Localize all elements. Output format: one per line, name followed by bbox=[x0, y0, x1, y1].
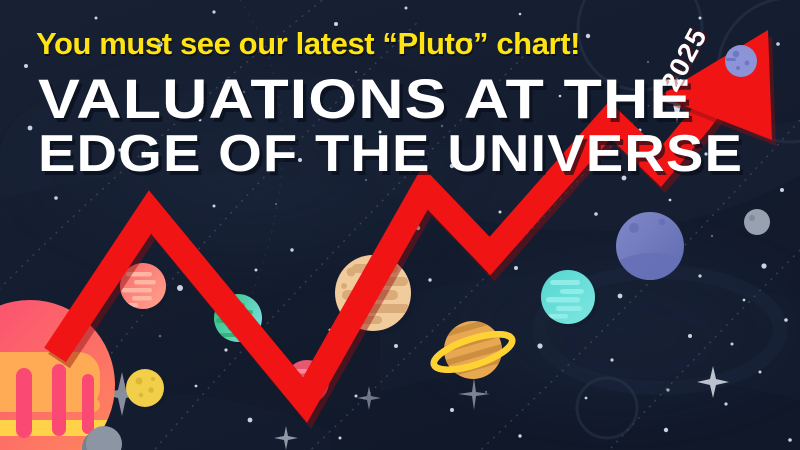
space-illustration bbox=[0, 0, 800, 450]
poster-canvas: You must see our latest “Pluto” chart! V… bbox=[0, 0, 800, 450]
planet-pluto-tip bbox=[725, 45, 757, 77]
planet-grey-moon-right bbox=[744, 209, 770, 235]
